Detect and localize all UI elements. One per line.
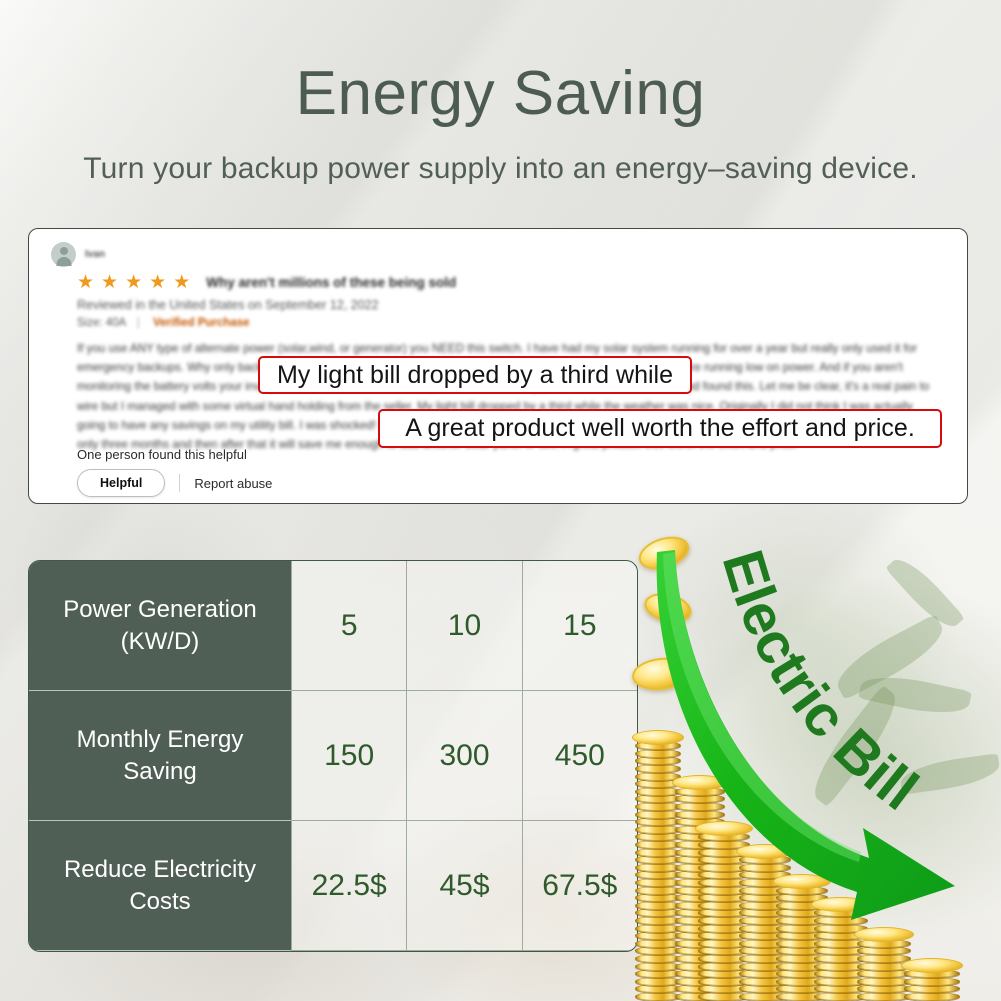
- table-row-label-power-generation: Power Generation (KW/D): [29, 561, 291, 691]
- table-cell: 5: [291, 561, 406, 691]
- promo-page: Energy Saving Turn your backup power sup…: [0, 0, 1001, 1001]
- coin-top: [901, 958, 963, 973]
- coin-stack: [904, 967, 960, 1001]
- star-icon: ★: [149, 273, 166, 292]
- row-label-line2: Saving: [77, 756, 244, 788]
- highlight-callout-1: My light bill dropped by a third while: [258, 356, 692, 394]
- coin: [635, 977, 681, 986]
- page-title: Energy Saving: [0, 58, 1001, 129]
- reviewer-name: Ivan: [85, 249, 105, 260]
- row-label-line1: Reduce Electricity: [64, 854, 256, 886]
- table-cell: 67.5$: [522, 821, 637, 951]
- action-divider: [179, 474, 180, 492]
- review-date: Reviewed in the United States on Septemb…: [77, 298, 379, 312]
- savings-comparison-table: Power Generation (KW/D) 5 10 15 Monthly …: [28, 560, 638, 952]
- verified-purchase-badge: Verified Purchase: [153, 317, 250, 329]
- avatar: [51, 242, 76, 267]
- star-icon: ★: [173, 273, 190, 292]
- table-cell: 45$: [406, 821, 521, 951]
- row-label-line2: (KW/D): [63, 626, 256, 658]
- coin: [857, 977, 911, 986]
- coin-stack: [857, 939, 911, 1001]
- row-label-line2: Costs: [64, 886, 256, 918]
- star-icon: ★: [77, 273, 94, 292]
- coin: [904, 977, 960, 986]
- row-label-line1: Power Generation: [63, 594, 256, 626]
- review-actions: Helpful Report abuse: [77, 469, 272, 497]
- review-meta: Size: 40A | Verified Purchase: [77, 317, 250, 329]
- coin: [635, 992, 681, 1001]
- rating-row: ★ ★ ★ ★ ★ Why aren't millions of these b…: [77, 273, 456, 292]
- star-icon: ★: [125, 273, 142, 292]
- page-subtitle: Turn your backup power supply into an en…: [0, 152, 1001, 186]
- table-row-label-reduce-electricity-costs: Reduce Electricity Costs: [29, 821, 291, 951]
- table-cell: 15: [522, 561, 637, 691]
- review-title[interactable]: Why aren't millions of these being sold: [206, 275, 456, 290]
- table-cell: 10: [406, 561, 521, 691]
- table-cell: 22.5$: [291, 821, 406, 951]
- coin: [904, 992, 960, 1001]
- helpful-count-text: One person found this helpful: [77, 447, 247, 462]
- table-cell: 150: [291, 691, 406, 821]
- table-cell: 450: [522, 691, 637, 821]
- coin: [635, 939, 681, 948]
- helpful-button[interactable]: Helpful: [77, 469, 165, 497]
- size-label: Size: 40A: [77, 317, 126, 329]
- table-row-label-monthly-energy-saving: Monthly Energy Saving: [29, 691, 291, 821]
- table-cell: 300: [406, 691, 521, 821]
- highlight-callout-2: A great product well worth the effort an…: [378, 409, 942, 448]
- row-label-line1: Monthly Energy: [77, 724, 244, 756]
- meta-separator: |: [137, 317, 140, 329]
- coin: [635, 954, 681, 963]
- report-abuse-link[interactable]: Report abuse: [194, 476, 272, 491]
- reviewer-header: Ivan: [51, 242, 105, 267]
- star-icon: ★: [101, 273, 118, 292]
- electric-bill-arrow: [655, 540, 1001, 940]
- coin: [857, 992, 911, 1001]
